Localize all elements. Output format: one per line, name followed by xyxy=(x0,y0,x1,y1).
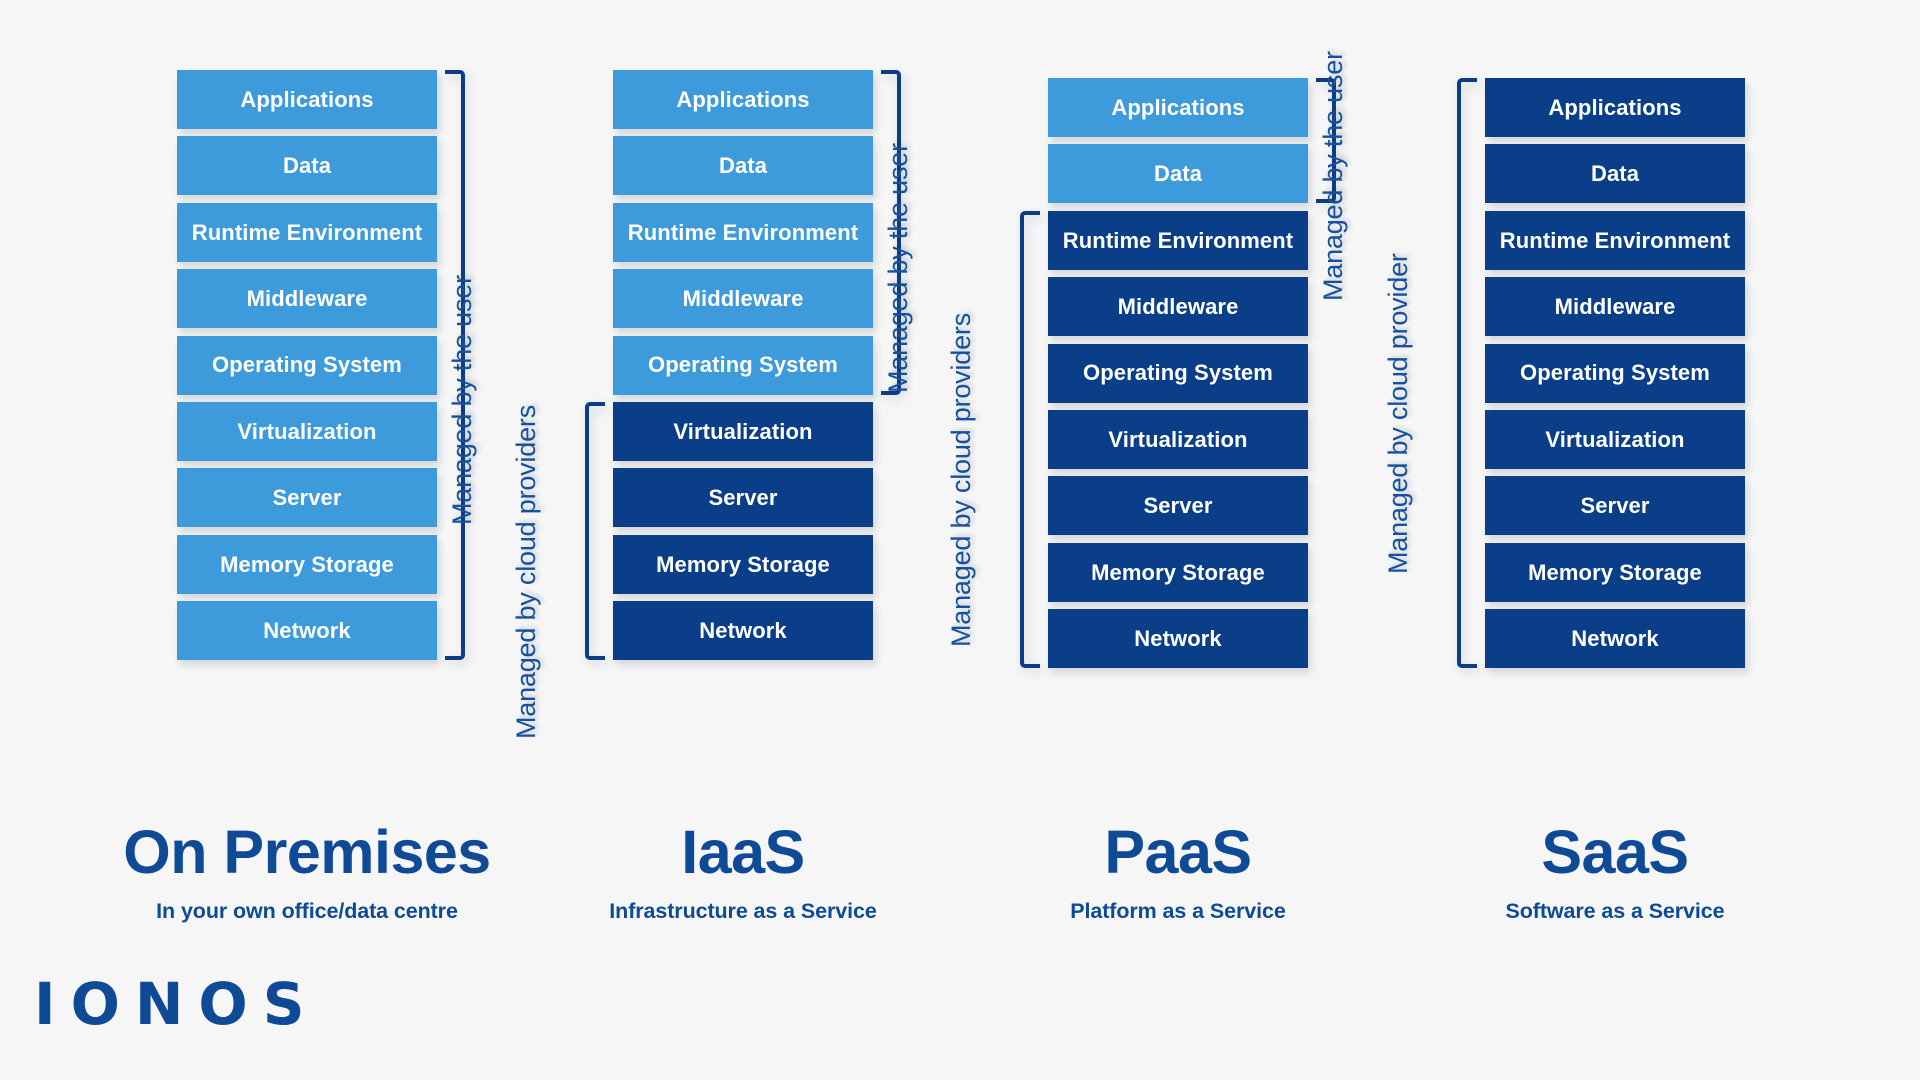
layer-label: Data xyxy=(277,153,337,179)
layer-box-iaas-middleware: Middleware xyxy=(613,269,873,328)
layer-box-on-premises-middleware: Middleware xyxy=(177,269,437,328)
layer-box-iaas-applications: Applications xyxy=(613,70,873,129)
layer-label: Virtualization xyxy=(231,419,382,445)
layer-box-on-premises-network: Network xyxy=(177,601,437,660)
layer-label: Memory Storage xyxy=(1522,560,1708,586)
layer-box-paas-memory-storage: Memory Storage xyxy=(1048,543,1308,602)
layer-box-on-premises-operating-system: Operating System xyxy=(177,336,437,395)
layer-box-on-premises-server: Server xyxy=(177,468,437,527)
layer-box-on-premises-virtualization: Virtualization xyxy=(177,402,437,461)
layer-box-saas-runtime-environment: Runtime Environment xyxy=(1485,211,1745,270)
layer-box-saas-applications: Applications xyxy=(1485,78,1745,137)
column-title-saas: SaaS xyxy=(1355,822,1875,883)
layer-label: Operating System xyxy=(1514,360,1716,386)
bracket-label-paas-left: Managed by cloud providers xyxy=(946,313,977,647)
layer-box-paas-virtualization: Virtualization xyxy=(1048,410,1308,469)
layer-box-paas-data: Data xyxy=(1048,144,1308,203)
layer-label: Data xyxy=(713,153,773,179)
layer-label: Applications xyxy=(1105,95,1250,121)
ionos-logo: IONOS xyxy=(34,975,320,1033)
layer-label: Server xyxy=(1137,493,1218,519)
layer-box-iaas-server: Server xyxy=(613,468,873,527)
layer-label: Server xyxy=(1574,493,1655,519)
layer-label: Applications xyxy=(670,87,815,113)
layer-label: Network xyxy=(1128,626,1228,652)
layer-box-iaas-operating-system: Operating System xyxy=(613,336,873,395)
column-subtitle-saas: Software as a Service xyxy=(1355,899,1875,924)
layer-box-saas-data: Data xyxy=(1485,144,1745,203)
bracket-iaas-left xyxy=(585,402,605,660)
layer-box-iaas-network: Network xyxy=(613,601,873,660)
layer-box-paas-middleware: Middleware xyxy=(1048,277,1308,336)
layer-label: Data xyxy=(1585,161,1645,187)
bracket-saas-left xyxy=(1457,78,1477,668)
layer-label: Memory Storage xyxy=(214,552,400,578)
layer-box-saas-server: Server xyxy=(1485,476,1745,535)
layer-box-on-premises-memory-storage: Memory Storage xyxy=(177,535,437,594)
layer-box-on-premises-runtime-environment: Runtime Environment xyxy=(177,203,437,262)
diagram-canvas: ApplicationsDataRuntime EnvironmentMiddl… xyxy=(0,0,1920,1080)
bracket-label-iaas-right: Managed by the user xyxy=(883,143,914,393)
bracket-label-saas-left: Managed by cloud provider xyxy=(1383,253,1414,574)
layer-label: Middleware xyxy=(677,286,810,312)
layer-box-iaas-virtualization: Virtualization xyxy=(613,402,873,461)
layer-label: Server xyxy=(702,485,783,511)
layer-label: Virtualization xyxy=(667,419,818,445)
layer-label: Middleware xyxy=(241,286,374,312)
layer-label: Operating System xyxy=(206,352,408,378)
layer-box-iaas-runtime-environment: Runtime Environment xyxy=(613,203,873,262)
layer-label: Memory Storage xyxy=(1085,560,1271,586)
layer-label: Server xyxy=(266,485,347,511)
layer-label: Virtualization xyxy=(1539,427,1690,453)
layer-label: Network xyxy=(693,618,793,644)
layer-box-iaas-memory-storage: Memory Storage xyxy=(613,535,873,594)
layer-label: Middleware xyxy=(1112,294,1245,320)
layer-box-paas-server: Server xyxy=(1048,476,1308,535)
layer-label: Network xyxy=(257,618,357,644)
layer-label: Middleware xyxy=(1549,294,1682,320)
layer-label: Network xyxy=(1565,626,1665,652)
layer-box-on-premises-data: Data xyxy=(177,136,437,195)
bracket-label-paas-right: Managed by the user xyxy=(1318,51,1349,301)
layer-box-paas-runtime-environment: Runtime Environment xyxy=(1048,211,1308,270)
layer-label: Data xyxy=(1148,161,1208,187)
layer-box-saas-virtualization: Virtualization xyxy=(1485,410,1745,469)
bracket-label-iaas-left: Managed by cloud providers xyxy=(511,405,542,739)
bracket-label-on-premises-right: Managed by the user xyxy=(447,275,478,525)
layer-label: Memory Storage xyxy=(650,552,836,578)
layer-box-paas-applications: Applications xyxy=(1048,78,1308,137)
layer-box-on-premises-applications: Applications xyxy=(177,70,437,129)
layer-label: Virtualization xyxy=(1102,427,1253,453)
layer-box-paas-network: Network xyxy=(1048,609,1308,668)
layer-box-saas-operating-system: Operating System xyxy=(1485,344,1745,403)
layer-label: Runtime Environment xyxy=(186,220,428,246)
layer-label: Applications xyxy=(1542,95,1687,121)
layer-label: Operating System xyxy=(1077,360,1279,386)
layer-box-iaas-data: Data xyxy=(613,136,873,195)
layer-label: Runtime Environment xyxy=(1057,228,1299,254)
layer-box-saas-network: Network xyxy=(1485,609,1745,668)
layer-label: Runtime Environment xyxy=(622,220,864,246)
layer-label: Runtime Environment xyxy=(1494,228,1736,254)
layer-box-paas-operating-system: Operating System xyxy=(1048,344,1308,403)
layer-box-saas-middleware: Middleware xyxy=(1485,277,1745,336)
layer-label: Applications xyxy=(234,87,379,113)
title-block-saas: SaaSSoftware as a Service xyxy=(1355,822,1875,924)
layer-label: Operating System xyxy=(642,352,844,378)
layer-box-saas-memory-storage: Memory Storage xyxy=(1485,543,1745,602)
bracket-paas-left xyxy=(1020,211,1040,668)
